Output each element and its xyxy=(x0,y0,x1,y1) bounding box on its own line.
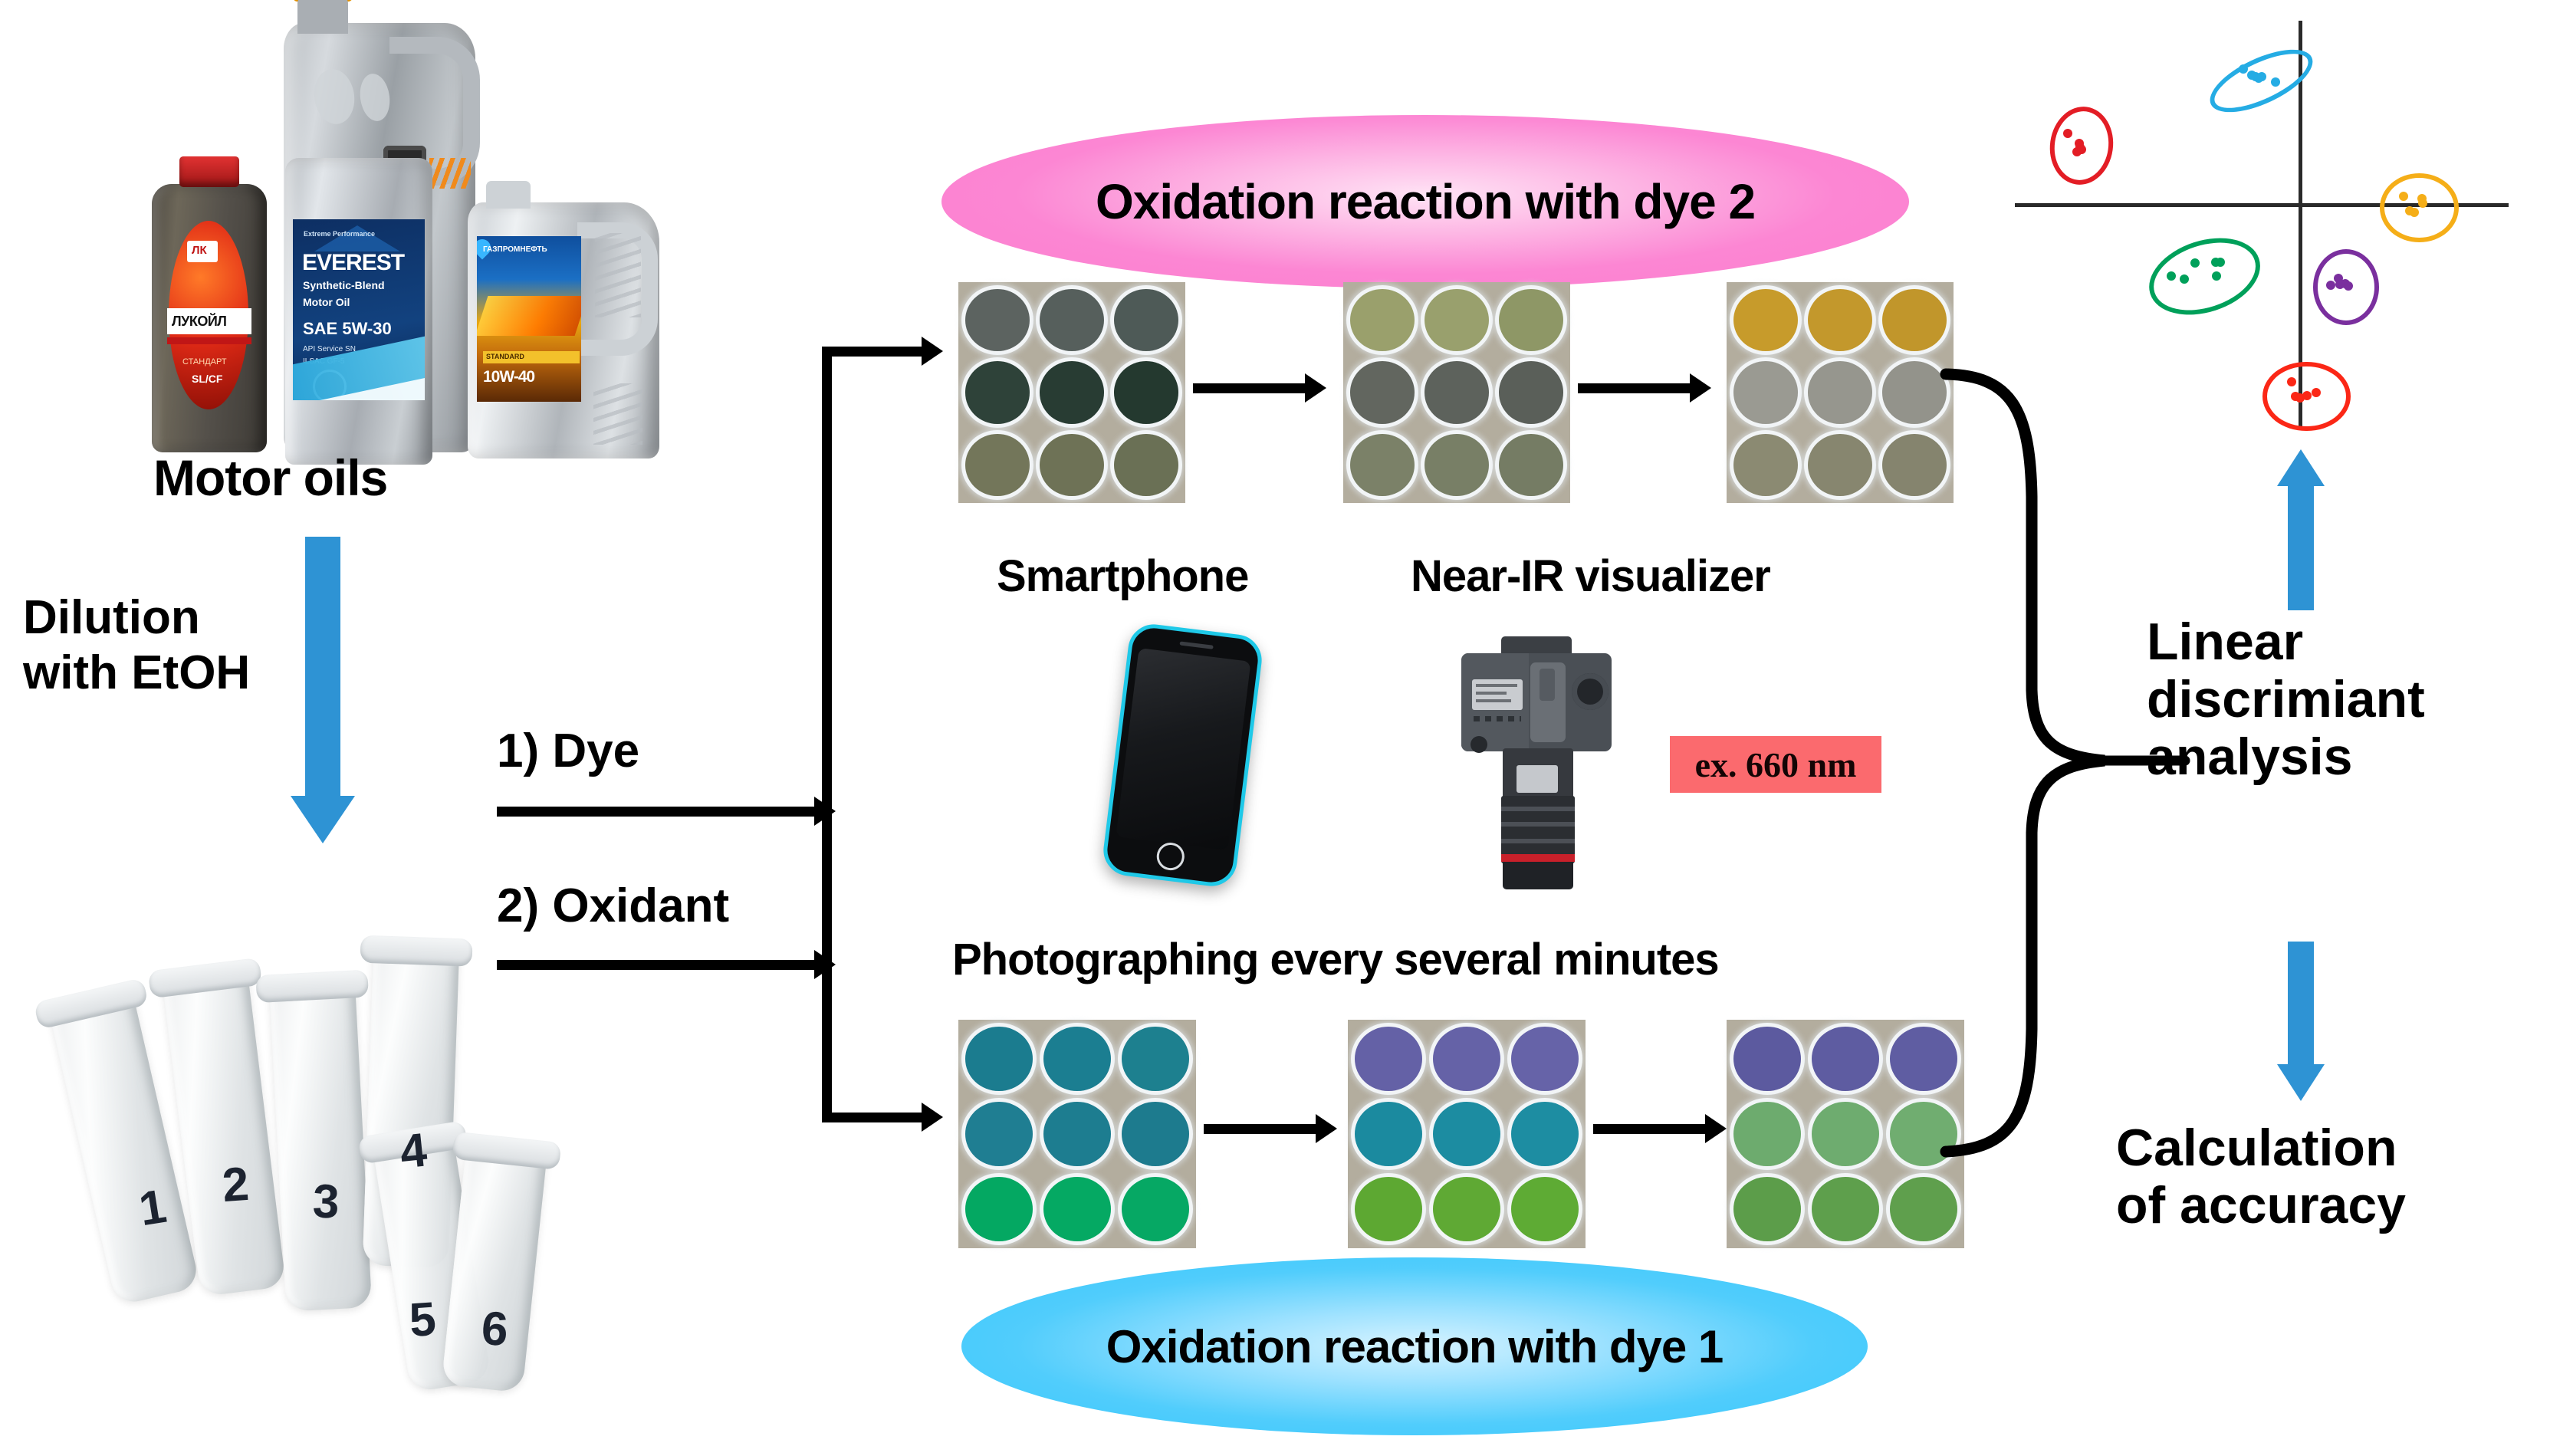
well-r3-c2 xyxy=(1425,434,1489,496)
well-r3-c1 xyxy=(1350,434,1415,496)
step-1-arrow-icon xyxy=(497,807,816,817)
gazprom-swoosh xyxy=(477,296,581,336)
well-cell xyxy=(1806,1021,1885,1096)
tube-lid xyxy=(255,969,369,1003)
accuracy-label: Calculation of accuracy xyxy=(2116,1119,2406,1234)
well-r1-c1 xyxy=(965,1027,1033,1091)
step-1-dye-label: 1) Dye xyxy=(497,727,639,775)
camera-lens-barrel xyxy=(1501,796,1575,863)
well-r1-c1 xyxy=(1733,289,1798,351)
data-point-oil-4-6 xyxy=(2212,271,2221,281)
well-r3-c1 xyxy=(1733,1177,1801,1241)
camera-display xyxy=(1472,679,1523,710)
camera-grip xyxy=(1530,662,1566,742)
tube-lid xyxy=(452,1132,561,1170)
well-cell xyxy=(1116,1096,1194,1172)
well-cell xyxy=(1345,429,1419,501)
well-cell xyxy=(1419,357,1494,429)
excitation-badge-label: ex. 660 nm xyxy=(1695,744,1857,785)
branch-bottom-arrow-icon xyxy=(822,1113,923,1122)
smartphone-label: Smartphone xyxy=(997,554,1248,599)
gazprom-neck xyxy=(486,181,531,209)
gazprom-ribs-bottom xyxy=(593,383,642,445)
well-r3-c3 xyxy=(1890,1177,1957,1241)
motor-oils-label: Motor oils xyxy=(153,452,387,504)
well-r3-c1 xyxy=(965,1177,1033,1241)
gazprom-canister: ГАЗПРОМНЕФТЬ 10W-40 xyxy=(468,202,659,458)
well-cell xyxy=(1349,1096,1428,1172)
step-2-oxidant-label: 2) Oxidant xyxy=(497,882,729,930)
branch-splitter-bar xyxy=(822,347,832,1122)
lukoil-cap xyxy=(179,156,239,187)
lda-label: Linear discrimiant analysis xyxy=(2147,613,2425,785)
data-point-oil-1-6 xyxy=(2271,77,2280,87)
well-r3-c2 xyxy=(1043,1177,1111,1241)
photographing-label: Photographing every several minutes xyxy=(952,937,1719,982)
well-r2-c3 xyxy=(1511,1102,1579,1166)
well-cell xyxy=(1494,357,1569,429)
well-cell xyxy=(1345,284,1419,357)
data-point-oil-4-3 xyxy=(2190,258,2200,268)
well-cell xyxy=(1506,1021,1584,1096)
data-point-oil-4-2 xyxy=(2180,274,2189,284)
well-r1-c2 xyxy=(1043,1027,1111,1091)
well-r1-c2 xyxy=(1425,289,1489,351)
well-cell xyxy=(1345,357,1419,429)
well-r3-c3 xyxy=(1499,434,1563,496)
phone-speaker xyxy=(1179,641,1213,649)
well-cell xyxy=(960,1096,1038,1172)
well-cell xyxy=(1419,429,1494,501)
well-cell xyxy=(1109,357,1184,429)
dye2-plate-t1 xyxy=(1343,282,1570,503)
everest-label: Extreme Performance EVEREST Synthetic-Bl… xyxy=(293,219,425,400)
well-cell xyxy=(1038,1172,1116,1247)
well-r2-c3 xyxy=(1882,361,1947,423)
tube-lid xyxy=(148,958,262,999)
well-r2-c3 xyxy=(1114,361,1178,423)
well-r1-c2 xyxy=(1040,289,1104,351)
well-r1-c3 xyxy=(1882,289,1947,351)
well-cell xyxy=(1728,1021,1806,1096)
dye2-plate-t2 xyxy=(1727,282,1954,503)
well-r2-c1 xyxy=(965,1102,1033,1166)
well-r3-c1 xyxy=(1733,434,1798,496)
well-r2-c2 xyxy=(1425,361,1489,423)
lukoil-grade: SL/CF xyxy=(192,373,222,385)
dye2-arrow-0-1 xyxy=(1193,383,1306,393)
well-r1-c2 xyxy=(1812,1027,1879,1091)
well-r2-c3 xyxy=(1499,361,1563,423)
dye1-callout-label: Oxidation reaction with dye 1 xyxy=(1106,1320,1724,1373)
well-cell xyxy=(1806,1096,1885,1172)
dye1-arrow-1-2 xyxy=(1593,1124,1707,1134)
well-r3-c3 xyxy=(1114,434,1178,496)
data-point-oil-6-4 xyxy=(2302,391,2312,400)
well-cell xyxy=(1728,357,1802,429)
gazprom-brand: ГАЗПРОМНЕФТЬ xyxy=(483,245,547,254)
well-cell xyxy=(1116,1172,1194,1247)
well-cell xyxy=(1728,1172,1806,1247)
everest-type-line1: Synthetic-Blend xyxy=(303,279,385,291)
camera-lens-window xyxy=(1517,765,1558,793)
dye1-plate-t2 xyxy=(1727,1020,1964,1248)
camera-lens-front xyxy=(1503,862,1573,889)
well-cell xyxy=(1419,284,1494,357)
tube-number-6: 6 xyxy=(480,1301,509,1357)
everest-tagline: Extreme Performance xyxy=(304,230,375,238)
well-r2-c2 xyxy=(1812,1102,1879,1166)
well-r2-c1 xyxy=(1350,361,1415,423)
lukoil-line-small: СТАНДАРТ xyxy=(182,357,227,366)
well-r3-c2 xyxy=(1812,1177,1879,1241)
phone-screen xyxy=(1116,648,1250,850)
well-r1-c2 xyxy=(1433,1027,1500,1091)
well-r2-c2 xyxy=(1040,361,1104,423)
everest-brand: EVEREST xyxy=(302,250,404,276)
everest-sae: SAE 5W-30 xyxy=(303,319,392,339)
lukoil-bottle: СТАНДАРТ SL/CF xyxy=(152,184,267,452)
well-cell xyxy=(1878,284,1952,357)
well-cell xyxy=(1802,429,1877,501)
data-point-oil-3-5 xyxy=(2410,208,2419,217)
dye2-callout-ellipse: Oxidation reaction with dye 2 xyxy=(941,115,1909,288)
well-r2-c1 xyxy=(1733,1102,1801,1166)
well-r1-c1 xyxy=(965,289,1030,351)
dilution-arrow-icon xyxy=(305,537,340,843)
well-cell xyxy=(1116,1021,1194,1096)
phone-home-button xyxy=(1155,841,1185,872)
dye1-plate-t1 xyxy=(1348,1020,1586,1248)
motor-oils-photo: Cargolub СТАНДАРТ SL/CF Extreme Performa… xyxy=(92,8,675,475)
well-cell xyxy=(960,1021,1038,1096)
lukoil-name-band xyxy=(167,308,251,334)
everest-type-line2: Motor Oil xyxy=(303,296,350,308)
tube-lid xyxy=(34,978,149,1030)
well-cell xyxy=(1494,284,1569,357)
dye1-arrow-0-1 xyxy=(1204,1124,1317,1134)
everest-bottle: Extreme Performance EVEREST Synthetic-Bl… xyxy=(285,158,432,465)
data-point-oil-5-1 xyxy=(2326,281,2335,290)
well-cell xyxy=(1349,1021,1428,1096)
lda-up-arrow-icon xyxy=(2288,449,2314,610)
excitation-badge: ex. 660 nm xyxy=(1670,736,1881,793)
well-r1-c3 xyxy=(1114,289,1178,351)
canister-neck xyxy=(297,0,348,34)
well-cell xyxy=(960,429,1034,501)
well-cell xyxy=(1038,1021,1116,1096)
lda-scatter-plot xyxy=(1993,8,2530,437)
well-r3-c2 xyxy=(1040,434,1104,496)
well-r1-c3 xyxy=(1511,1027,1579,1091)
well-cell xyxy=(1428,1172,1506,1247)
canister-stripes xyxy=(429,158,471,189)
camera-buttons xyxy=(1474,716,1521,721)
lukoil-logo xyxy=(187,241,218,262)
well-r2-c2 xyxy=(1808,361,1872,423)
well-cell xyxy=(1428,1021,1506,1096)
dye1-plate-t0 xyxy=(958,1020,1196,1248)
well-r1-c1 xyxy=(1350,289,1415,351)
well-r2-c3 xyxy=(1122,1102,1189,1166)
tube-lid xyxy=(360,935,472,967)
lukoil-red-band xyxy=(167,337,251,344)
well-r3-c2 xyxy=(1808,434,1872,496)
gazprom-label: ГАЗПРОМНЕФТЬ 10W-40 xyxy=(477,236,581,402)
data-point-oil-1-5 xyxy=(2257,72,2266,81)
well-r1-c2 xyxy=(1808,289,1872,351)
tube-number-5: 5 xyxy=(408,1292,438,1348)
smartphone-icon xyxy=(1101,622,1265,889)
cluster-ellipse-oil-3 xyxy=(2380,173,2459,242)
well-cell xyxy=(960,284,1034,357)
well-cell xyxy=(1428,1096,1506,1172)
data-point-oil-6-5 xyxy=(2312,388,2321,397)
canister-dimple-left xyxy=(311,67,358,127)
tube-number-4: 4 xyxy=(397,1122,429,1179)
dye1-callout-ellipse: Oxidation reaction with dye 1 xyxy=(961,1257,1868,1435)
dilution-label: Dilution with EtOH xyxy=(23,590,250,701)
well-cell xyxy=(1728,429,1802,501)
well-cell xyxy=(1802,284,1877,357)
well-cell xyxy=(1034,284,1109,357)
well-cell xyxy=(1506,1096,1584,1172)
well-cell xyxy=(1109,429,1184,501)
well-cell xyxy=(960,357,1034,429)
gazprom-tier-band xyxy=(483,351,580,363)
data-point-oil-4-5 xyxy=(2216,258,2225,267)
camera-viewfinder xyxy=(1572,673,1609,710)
well-r1-c1 xyxy=(1355,1027,1422,1091)
nir-visualizer-label: Near-IR visualizer xyxy=(1411,554,1770,599)
gazprom-sae: 10W-40 xyxy=(483,368,534,386)
well-r2-c2 xyxy=(1433,1102,1500,1166)
well-cell xyxy=(1494,429,1569,501)
well-r2-c2 xyxy=(1043,1102,1111,1166)
dye2-arrow-1-2 xyxy=(1578,383,1691,393)
well-r2-c1 xyxy=(1733,361,1798,423)
well-cell xyxy=(960,1172,1038,1247)
well-r3-c2 xyxy=(1433,1177,1500,1241)
near-ir-camera-icon xyxy=(1457,636,1618,889)
step-2-arrow-icon xyxy=(497,960,816,970)
well-r1-c1 xyxy=(1733,1027,1801,1091)
canister-dimple-right xyxy=(357,72,393,123)
well-r2-c1 xyxy=(965,361,1030,423)
well-r3-c1 xyxy=(1355,1177,1422,1241)
camera-red-ring xyxy=(1501,854,1575,862)
well-cell xyxy=(1034,357,1109,429)
data-point-oil-1-1 xyxy=(2239,64,2248,74)
well-r2-c1 xyxy=(1355,1102,1422,1166)
well-cell xyxy=(1802,357,1877,429)
well-cell xyxy=(1728,1096,1806,1172)
well-cell xyxy=(1506,1172,1584,1247)
well-cell xyxy=(1038,1096,1116,1172)
well-cell xyxy=(1349,1172,1428,1247)
well-cell xyxy=(1034,429,1109,501)
dye2-callout-label: Oxidation reaction with dye 2 xyxy=(1096,173,1755,230)
well-cell xyxy=(1728,284,1802,357)
tube-number-2: 2 xyxy=(221,1157,251,1213)
branch-top-arrow-icon xyxy=(822,347,923,357)
accuracy-down-arrow-icon xyxy=(2288,942,2314,1103)
well-cell xyxy=(1109,284,1184,357)
phone-body xyxy=(1101,622,1265,889)
well-cell xyxy=(1806,1172,1885,1247)
tube-3 xyxy=(269,978,372,1311)
cluster-ellipse-oil-4 xyxy=(2139,225,2270,327)
dye2-plate-t0 xyxy=(958,282,1185,503)
gazprom-ribs-top xyxy=(595,233,641,317)
well-r3-c3 xyxy=(1122,1177,1189,1241)
tube-number-3: 3 xyxy=(312,1174,340,1229)
camera-dial xyxy=(1471,736,1487,753)
well-r3-c3 xyxy=(1882,434,1947,496)
well-r3-c1 xyxy=(965,434,1030,496)
well-cell xyxy=(1885,1172,1963,1247)
well-r3-c3 xyxy=(1511,1177,1579,1241)
sample-tubes-photo: 1 2 3 4 5 6 xyxy=(74,859,580,1395)
well-r1-c3 xyxy=(1499,289,1563,351)
data-point-oil-2-1 xyxy=(2063,129,2072,138)
well-r1-c3 xyxy=(1122,1027,1189,1091)
